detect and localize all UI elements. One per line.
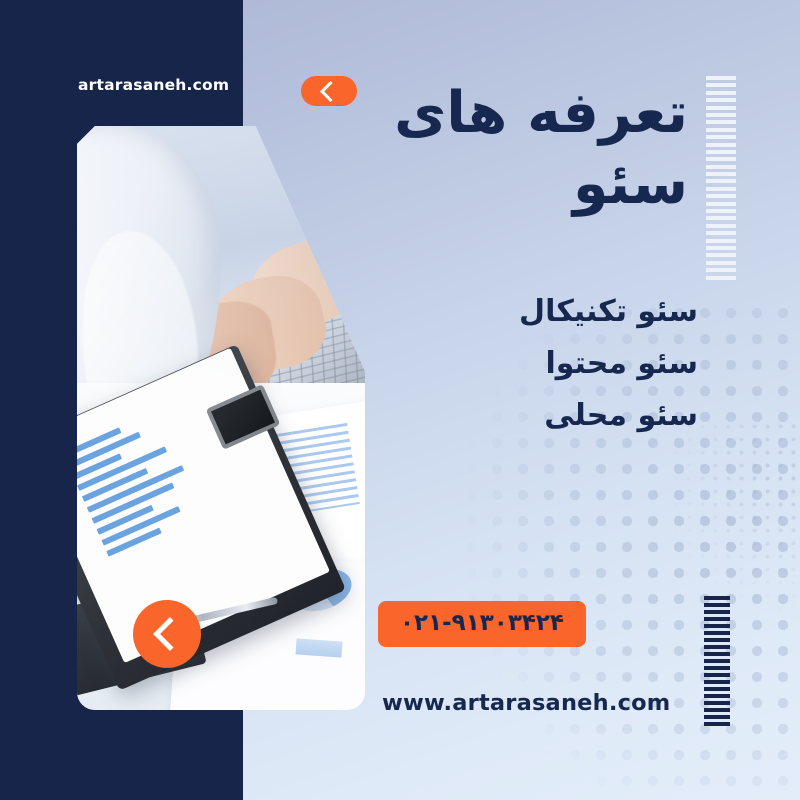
dark-ladder-decoration [704,596,730,729]
photo-chart-block [295,638,342,657]
phone-number-badge[interactable]: ۰۲۱-۹۱۳۰۳۴۲۴ [378,601,586,647]
services-list: سئو تکنیکال سئو محتوا سئو محلی [298,286,698,442]
service-item-local-seo: سئو محلی [298,390,698,442]
previous-pill-button[interactable] [301,76,357,106]
chevron-left-icon [153,617,187,651]
service-item-technical-seo: سئو تکنیکال [298,286,698,338]
website-url[interactable]: www.artarasaneh.com [382,690,670,716]
halftone-dot-pattern-small [540,420,800,720]
light-ladder-decoration [706,76,736,283]
poster-canvas: artarasaneh.com [0,0,800,800]
brand-logo: artarasaneh.com [78,76,229,94]
page-title-line-2: سئو [268,149,688,220]
service-item-content-seo: سئو محتوا [298,338,698,390]
chevron-left-icon [320,80,341,101]
previous-circle-button[interactable] [133,600,201,668]
